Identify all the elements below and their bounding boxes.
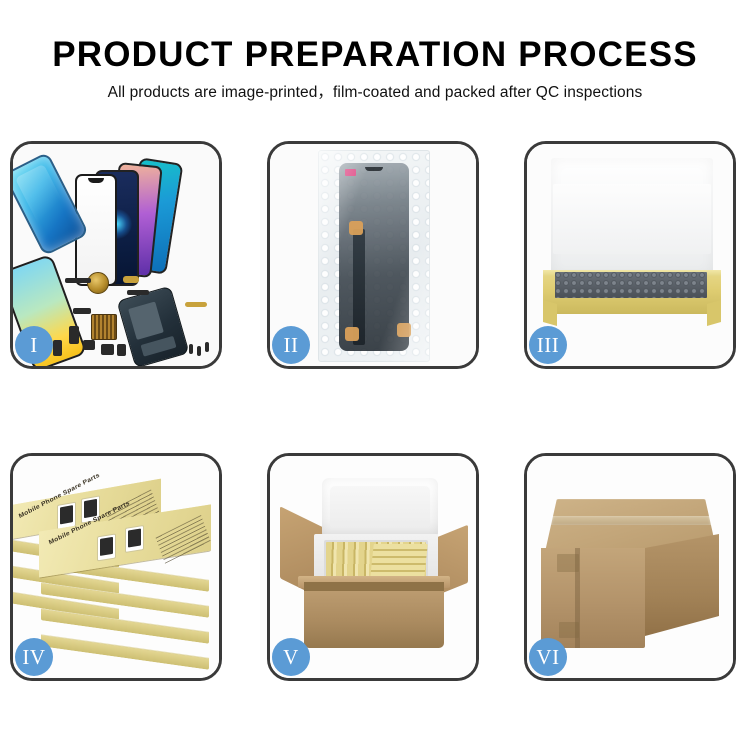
speaker-box-part xyxy=(101,344,114,355)
bag-gloss-highlight xyxy=(318,150,430,362)
step-numeral-badge: II xyxy=(272,326,310,364)
page-header: PRODUCT PREPARATION PROCESS All products… xyxy=(0,0,750,104)
vibrator-part xyxy=(73,308,91,314)
button-flex-part xyxy=(69,326,79,344)
process-step-panel-3[interactable]: III xyxy=(524,141,736,369)
step-numeral-badge: III xyxy=(529,326,567,364)
yellow-box-tray xyxy=(543,270,721,314)
carton-body xyxy=(304,582,444,648)
carton-flap-mark-top xyxy=(557,554,579,572)
box-art-screen-a xyxy=(97,533,116,561)
speaker-coil-part xyxy=(87,272,109,294)
process-step-panel-2[interactable]: II xyxy=(267,141,479,369)
connector-grid-part xyxy=(91,314,117,340)
carton-side-face xyxy=(645,534,719,636)
sim-tray-part xyxy=(123,276,139,283)
carton-flap-mark-bottom xyxy=(559,622,579,638)
flex-cable-part xyxy=(127,290,149,295)
phone-motherboard xyxy=(116,286,189,366)
page-title: PRODUCT PREPARATION PROCESS xyxy=(0,34,750,76)
step-numeral-badge: VI xyxy=(529,638,567,676)
screwdriver-part xyxy=(185,302,207,307)
page-subtitle: All products are image-printed，film-coat… xyxy=(0,82,750,104)
packed-retail-boxes-row-b xyxy=(370,544,428,578)
process-steps-grid: I II xyxy=(10,141,740,681)
camera-module-part xyxy=(83,340,95,350)
sim-pin-part xyxy=(53,340,62,356)
packing-tape-strip xyxy=(551,516,711,525)
step-numeral-badge: IV xyxy=(15,638,53,676)
process-step-panel-4[interactable]: Mobile Phone Spare Parts Mobile Phone Sp… xyxy=(10,453,222,681)
process-step-panel-6[interactable]: VI xyxy=(524,453,736,681)
packed-screens-row xyxy=(555,272,707,298)
screw-part-b xyxy=(197,346,201,356)
process-step-panel-1[interactable]: I xyxy=(10,141,222,369)
white-foam-sheet xyxy=(551,158,713,276)
process-step-panel-5[interactable]: V xyxy=(267,453,479,681)
screw-part-a xyxy=(189,344,193,354)
box-corner-right xyxy=(707,300,721,326)
box-art-screen-b xyxy=(125,525,144,553)
screw-part-c xyxy=(205,342,209,352)
foam-cooler-lid xyxy=(322,478,438,536)
charging-port-part xyxy=(117,344,126,356)
box-corner-left xyxy=(543,300,557,326)
step-numeral-badge: I xyxy=(15,326,53,364)
step-numeral-badge: V xyxy=(272,638,310,676)
earpiece-part xyxy=(65,278,91,283)
foam-cooler-cavity xyxy=(324,540,428,580)
